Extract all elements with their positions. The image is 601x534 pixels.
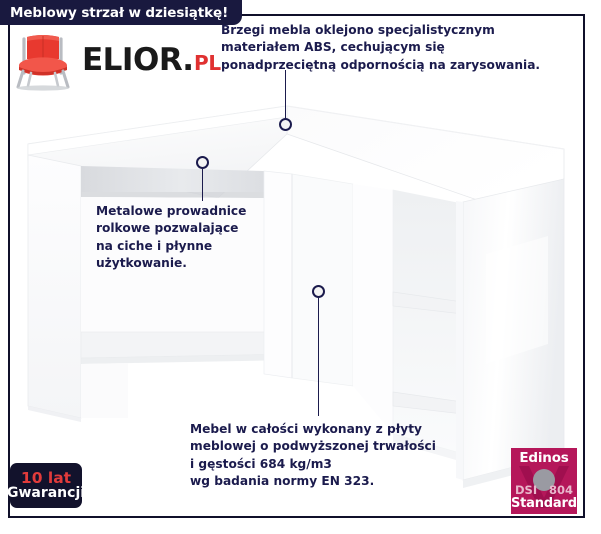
annotation-metal-runners: Metalowe prowadnice rolkowe pozwalające …: [96, 203, 296, 272]
annotation-abs-edging: Brzegi mebla oklejono specjalistycznym m…: [221, 22, 581, 74]
leader-line-abs: [285, 70, 286, 119]
brand-dot: .: [182, 45, 194, 76]
edinos-title: Edinos: [511, 450, 577, 466]
promo-ribbon: Meblowy strzał w dziesiątkę!: [0, 0, 242, 25]
brand-wordmark: ELIOR . PL: [82, 45, 221, 76]
annotation-board-density: Mebel w całości wykonany z płyty meblowe…: [190, 421, 480, 490]
edinos-standards-badge: Edinos DSI 804 Standards: [511, 448, 577, 514]
callout-marker-abs: [279, 118, 292, 131]
edinos-code-number: 804: [549, 483, 573, 497]
callout-marker-runners: [196, 156, 209, 169]
warranty-label: Gwarancji: [7, 486, 85, 501]
warranty-badge: 10 lat Gwarancji: [10, 463, 82, 508]
leader-line-board: [318, 298, 319, 416]
armchair-icon: [14, 29, 74, 91]
brand-tld: PL: [194, 53, 221, 73]
promo-ribbon-text: Meblowy strzał w dziesiątkę!: [10, 5, 228, 21]
leader-line-runners: [202, 169, 203, 201]
warranty-years: 10 lat: [21, 470, 71, 486]
brand-logo[interactable]: ELIOR . PL: [14, 27, 189, 93]
edinos-code-prefix: DSI: [515, 483, 537, 497]
edinos-label: Standards: [511, 496, 577, 511]
brand-name: ELIOR: [82, 45, 182, 76]
callout-marker-board: [312, 285, 325, 298]
